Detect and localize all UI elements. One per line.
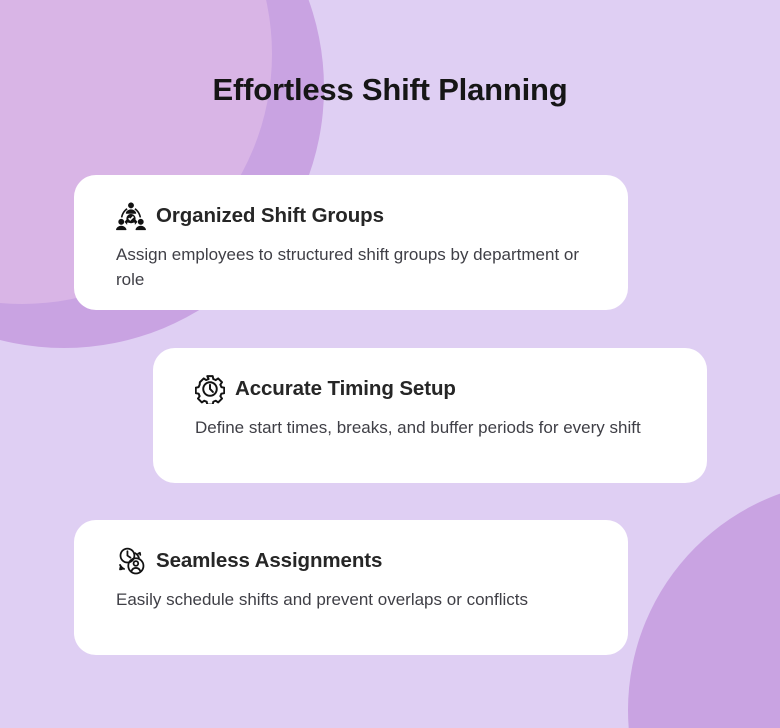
feature-card-organized-shift-groups: Organized Shift Groups Assign employees … xyxy=(74,175,628,310)
card-header: Seamless Assignments xyxy=(116,544,588,578)
feature-card-seamless-assignments: Seamless Assignments Easily schedule shi… xyxy=(74,520,628,655)
feature-card-accurate-timing-setup: Accurate Timing Setup Define start times… xyxy=(153,348,707,483)
card-header: Organized Shift Groups xyxy=(116,199,588,233)
page-title: Effortless Shift Planning xyxy=(0,68,780,112)
gear-clock-icon xyxy=(195,374,225,404)
card-description: Define start times, breaks, and buffer p… xyxy=(195,415,665,440)
card-header: Accurate Timing Setup xyxy=(195,372,667,406)
card-description: Easily schedule shifts and prevent overl… xyxy=(116,587,586,612)
decorative-circle-bottom-right xyxy=(628,480,780,728)
card-title: Seamless Assignments xyxy=(156,549,382,573)
clock-person-icon xyxy=(116,546,146,576)
card-description: Assign employees to structured shift gro… xyxy=(116,242,586,292)
team-structure-icon xyxy=(116,201,146,231)
card-title: Organized Shift Groups xyxy=(156,204,384,228)
card-title: Accurate Timing Setup xyxy=(235,377,456,401)
infographic-canvas: Effortless Shift Planning xyxy=(0,0,780,728)
